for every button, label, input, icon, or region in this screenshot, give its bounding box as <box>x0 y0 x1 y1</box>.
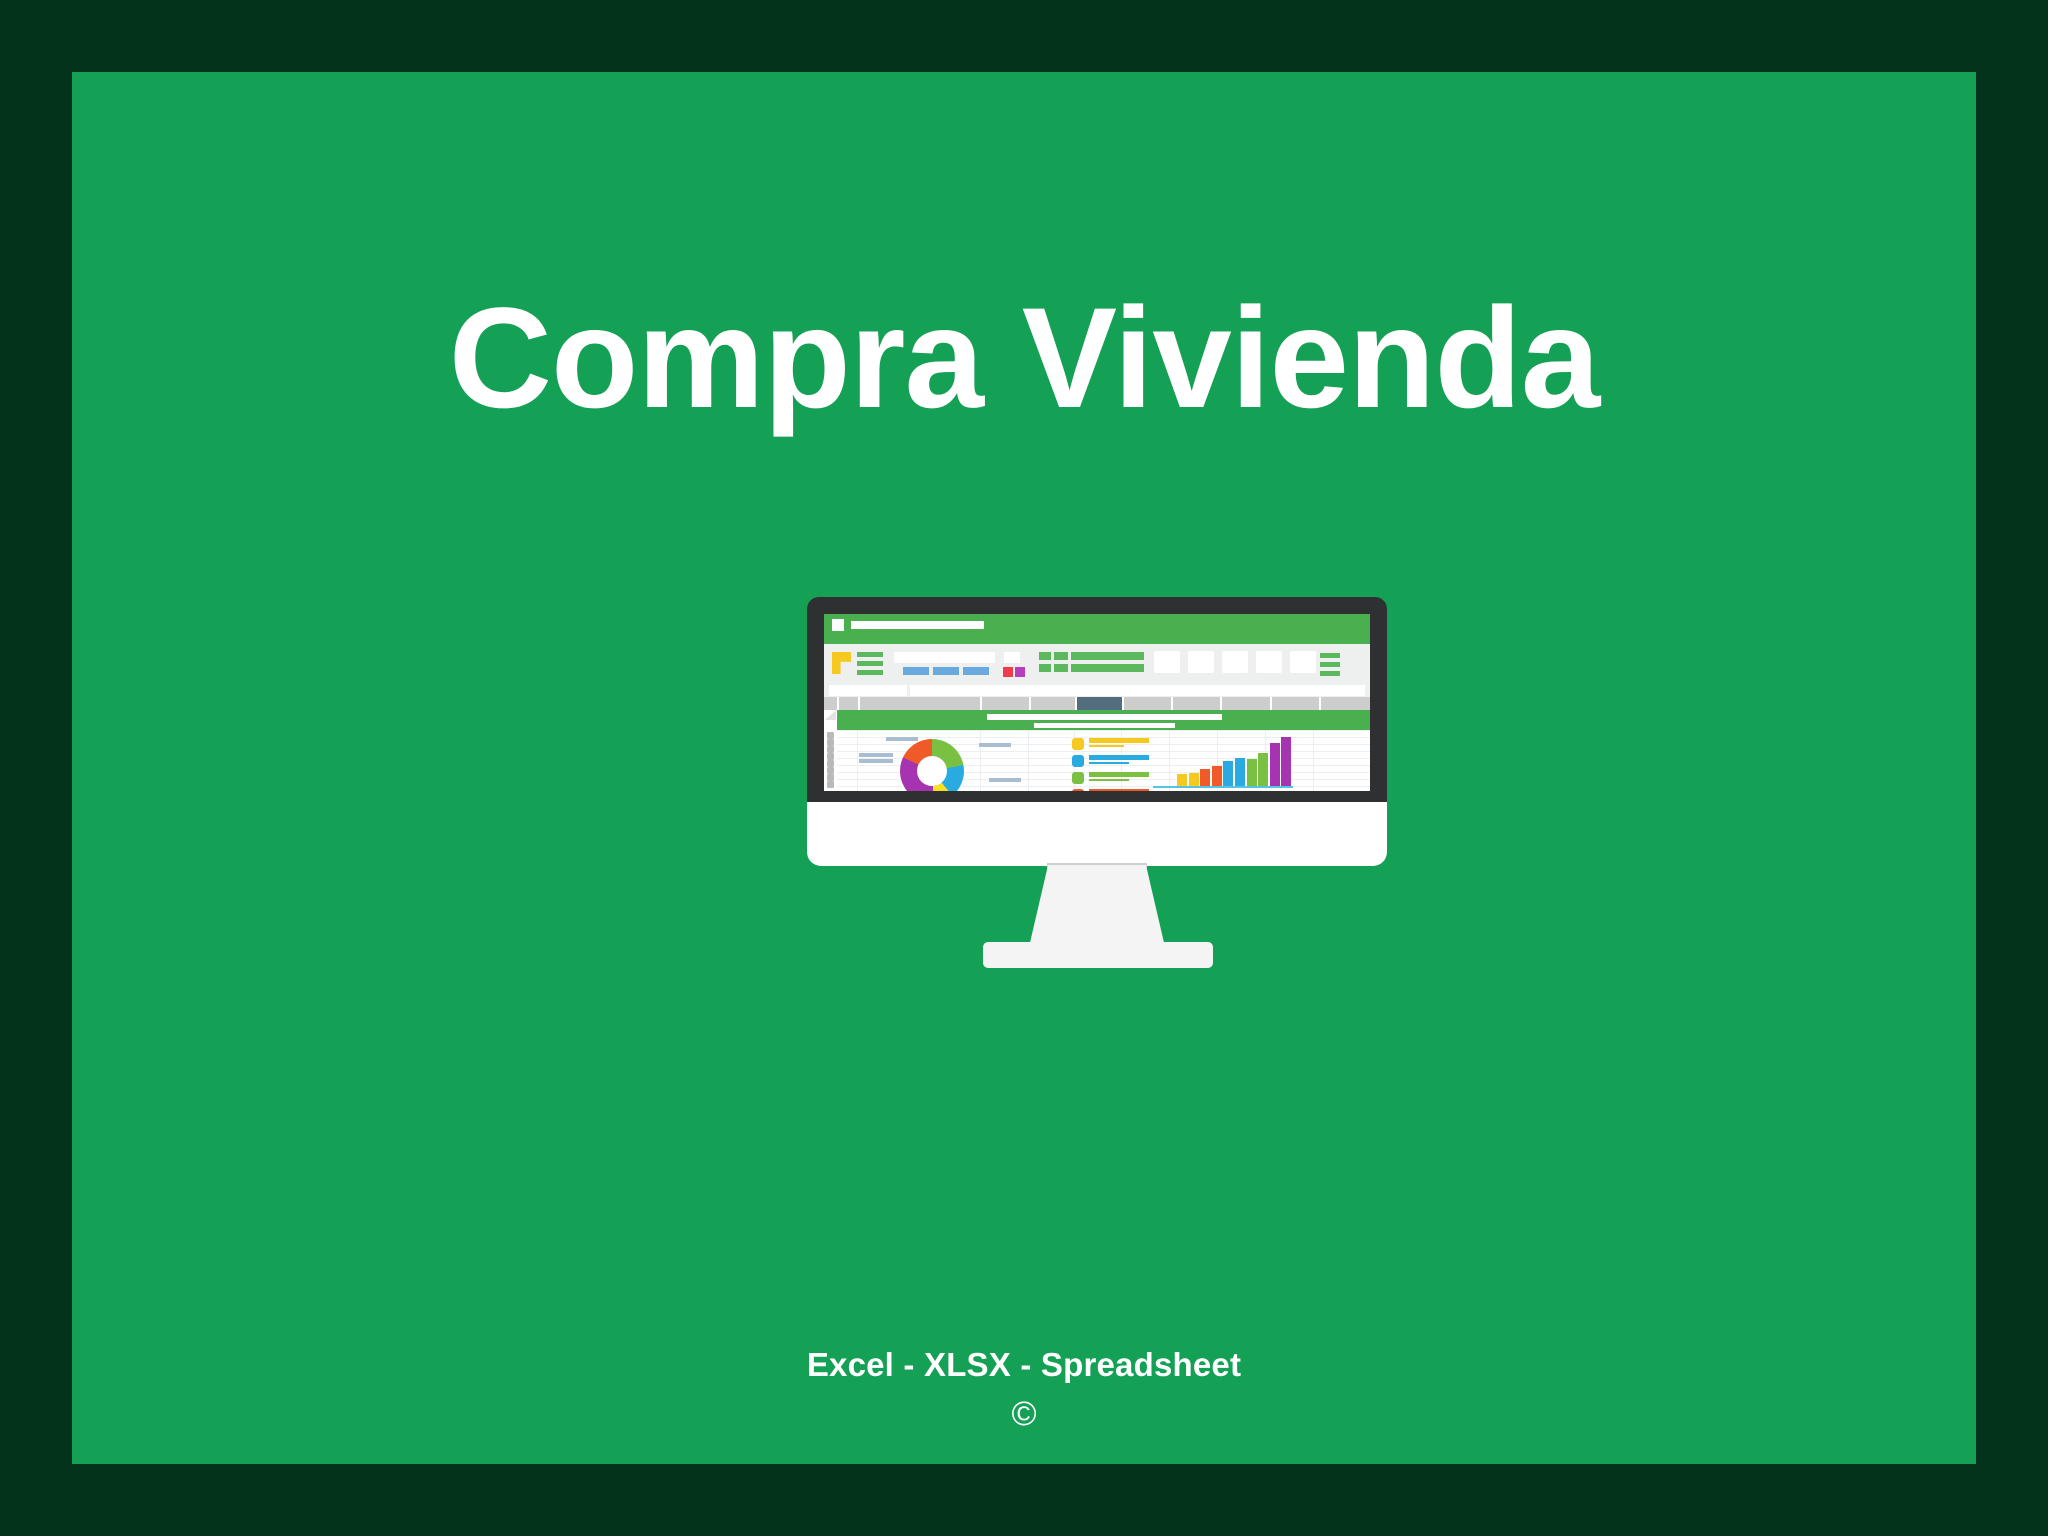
column-header[interactable] <box>839 697 859 710</box>
bar <box>1258 753 1268 786</box>
bar <box>1247 759 1257 786</box>
monitor-neck <box>1029 865 1165 947</box>
select-all-corner-icon[interactable] <box>825 710 836 720</box>
column-header[interactable] <box>1173 697 1220 710</box>
screen <box>824 614 1370 791</box>
copyright-icon: © <box>72 1397 1976 1431</box>
column-chart <box>1153 734 1293 788</box>
bar <box>1212 766 1222 786</box>
bar <box>1223 761 1233 786</box>
bar <box>1281 737 1291 786</box>
legend-swatch-yellow <box>1072 738 1084 750</box>
bar <box>1177 774 1187 786</box>
bar <box>1189 773 1199 786</box>
column-header[interactable] <box>982 697 1028 710</box>
banner-title-placeholder <box>987 714 1222 720</box>
blue-button-1[interactable] <box>903 667 929 675</box>
ribbon-white-button-4[interactable] <box>1256 651 1282 673</box>
column-header-selected[interactable] <box>1077 697 1122 710</box>
donut-label-1 <box>886 737 918 741</box>
column-header[interactable] <box>1272 697 1319 710</box>
sheet-title-banner <box>837 710 1370 730</box>
ribbon-small-input[interactable] <box>1004 652 1020 663</box>
menu-lines-icon[interactable] <box>1320 653 1340 680</box>
ribbon-white-button-1[interactable] <box>1154 651 1180 673</box>
column-header[interactable] <box>1031 697 1075 710</box>
ribbon-white-button-2[interactable] <box>1188 651 1214 673</box>
formula-input[interactable] <box>910 685 1365 696</box>
row-header[interactable] <box>827 760 834 767</box>
green-blocks-group[interactable] <box>1039 652 1144 676</box>
monitor-illustration <box>807 597 1387 1092</box>
ribbon-toolbar[interactable] <box>824 644 1370 684</box>
monitor-chin <box>807 802 1387 866</box>
formula-bar[interactable] <box>824 684 1370 697</box>
ribbon-white-button-3[interactable] <box>1222 651 1248 673</box>
donut-label-4 <box>859 759 893 763</box>
row-header[interactable] <box>827 774 834 781</box>
donut-label-3 <box>859 753 893 757</box>
banner-subtitle-placeholder <box>1034 723 1175 728</box>
donut-label-5 <box>989 778 1021 782</box>
legend-item <box>1072 755 1149 767</box>
row-header[interactable] <box>827 753 834 760</box>
blue-button-2[interactable] <box>933 667 959 675</box>
row-header[interactable] <box>827 739 834 746</box>
legend-swatch-blue <box>1072 755 1084 767</box>
chart-axis <box>1153 786 1293 788</box>
donut-label-2 <box>979 743 1011 747</box>
spreadsheet-grid[interactable] <box>824 710 1370 791</box>
row-header[interactable] <box>827 767 834 774</box>
row-header[interactable] <box>827 746 834 753</box>
legend-swatch-green <box>1072 772 1084 784</box>
chart-legend-right <box>1072 738 1149 791</box>
name-box[interactable] <box>829 685 907 696</box>
green-lines-icon[interactable] <box>857 652 883 679</box>
column-header[interactable] <box>1321 697 1370 710</box>
poster-card: Compra Vivienda <box>72 72 1976 1464</box>
column-header[interactable] <box>1222 697 1269 710</box>
footer-label: Excel - XLSX - Spreadsheet <box>72 1347 1976 1383</box>
bar <box>1200 769 1210 786</box>
column-header[interactable] <box>860 697 980 710</box>
column-header[interactable] <box>824 697 837 710</box>
blue-button-3[interactable] <box>963 667 989 675</box>
bar <box>1235 758 1245 786</box>
row-header[interactable] <box>827 732 834 739</box>
app-title-placeholder <box>851 621 984 629</box>
app-title-bar <box>824 614 1370 644</box>
ribbon-text-input[interactable] <box>894 652 995 663</box>
row-headers[interactable] <box>824 710 837 791</box>
legend-item <box>1072 738 1149 750</box>
footer: Excel - XLSX - Spreadsheet © <box>72 1347 1976 1431</box>
column-headers[interactable] <box>824 697 1370 710</box>
page-title: Compra Vivienda <box>72 287 1976 430</box>
app-logo-icon <box>832 619 844 631</box>
bar <box>1270 743 1280 786</box>
line-chart <box>1020 789 1293 791</box>
donut-chart <box>900 739 964 791</box>
purple-square-icon[interactable] <box>1015 667 1025 677</box>
monitor-foot <box>983 942 1213 968</box>
yellow-folder-icon[interactable] <box>832 652 851 674</box>
legend-item <box>1072 772 1149 784</box>
row-header[interactable] <box>827 781 834 788</box>
ribbon-white-button-5[interactable] <box>1290 651 1316 673</box>
red-square-icon[interactable] <box>1003 667 1013 677</box>
column-header[interactable] <box>1124 697 1171 710</box>
